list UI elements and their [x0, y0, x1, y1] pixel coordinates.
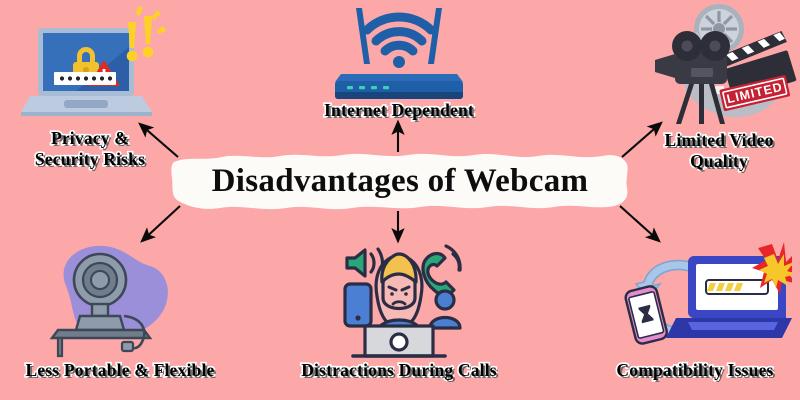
- label-line-1: Distractions During Calls: [301, 360, 497, 380]
- node-label-internet-dependent: Internet Dependent: [305, 100, 493, 121]
- wifi-router-icon: [315, 2, 483, 102]
- label-line-1: Internet Dependent: [324, 100, 474, 120]
- label-line-2: Quality: [690, 151, 748, 171]
- laptop-password-lock-warning-icon: [16, 4, 188, 126]
- label-line-1: Privacy &: [51, 128, 129, 148]
- node-label-privacy-security-risks: Privacy & Security Risks: [0, 128, 180, 169]
- center-banner: Disadvantages of Webcam: [170, 150, 630, 212]
- label-line-1: Less Portable & Flexible: [25, 360, 214, 380]
- laptop-phone-sync-error-icon: [602, 238, 792, 360]
- label-line-1: Compatibility Issues: [616, 360, 773, 380]
- infographic-canvas: Disadvantages of Webcam: [0, 0, 800, 400]
- label-line-2: Security Risks: [35, 149, 145, 169]
- node-label-limited-video-quality: Limited Video Quality: [633, 130, 800, 171]
- label-line-1: Limited Video: [664, 130, 773, 150]
- page-title: Disadvantages of Webcam: [170, 150, 630, 212]
- webcam-on-stand-icon: [38, 238, 178, 358]
- node-label-compatibility-issues: Compatibility Issues: [590, 360, 800, 381]
- movie-camera-film-reel-clapperboard-icon: LIMITED: [645, 2, 800, 128]
- frustrated-person-laptop-notifications-icon: [285, 240, 513, 362]
- node-label-distractions-during-calls: Distractions During Calls: [279, 360, 519, 381]
- node-label-less-portable-flexible: Less Portable & Flexible: [4, 360, 236, 381]
